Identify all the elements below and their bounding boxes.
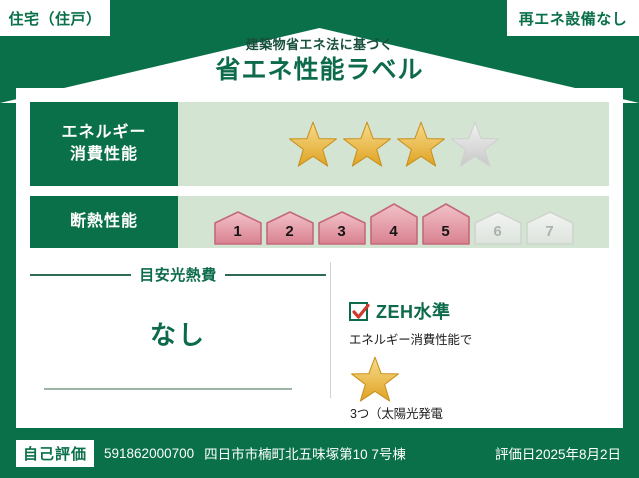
star-filled-icon	[341, 118, 393, 170]
star-filled-icon	[349, 353, 401, 405]
insulation-level-scale: 1234567	[213, 196, 575, 248]
utility-cost-column: 目安光熱費 なし	[30, 258, 326, 426]
energy-performance-name-line1: エネルギー	[61, 122, 146, 144]
evaluation-date: 評価日2025年8月2日	[495, 443, 621, 463]
insulation-level-5: 5	[421, 203, 471, 245]
utility-cost-heading: 目安光熱費	[30, 264, 326, 285]
label-body: エネルギー 消費性能 断熱性能 1234567 目安光熱費	[16, 88, 623, 428]
energy-performance-value	[178, 102, 609, 186]
utility-cost-value: なし	[30, 315, 326, 352]
house-filled-icon	[422, 203, 470, 245]
utility-cost-rule-right	[225, 274, 326, 276]
star-icon	[349, 353, 597, 405]
insulation-level-6: 6	[473, 211, 523, 245]
energy-performance-label: 住宅（住戸） 再エネ設備なし 建築物省エネ法に基づく 省エネ性能ラベル エネルギ…	[0, 0, 639, 478]
energy-performance-row: エネルギー 消費性能	[30, 102, 609, 186]
star-empty-icon	[449, 118, 501, 170]
self-evaluation-badge: 自己評価	[16, 440, 94, 467]
zeh-title: ZEH水準	[376, 298, 451, 324]
energy-performance-name-line2: 消費性能	[70, 144, 138, 166]
insulation-performance-name: 断熱性能	[30, 196, 178, 248]
utility-cost-heading-label: 目安光熱費	[139, 264, 217, 285]
star-rating	[287, 118, 501, 170]
renewable-energy-tag: 再エネ設備なし	[507, 0, 639, 36]
house-empty-icon	[474, 211, 522, 245]
insulation-level-1: 1	[213, 211, 263, 245]
evaluation-id: 591862000700	[104, 446, 194, 461]
renewable-energy-tag-label: 再エネ設備なし	[519, 8, 628, 29]
star-filled-icon	[287, 118, 339, 170]
house-filled-icon	[370, 203, 418, 245]
zeh-desc-star-count: 3つ（太陽光発電	[350, 407, 443, 421]
zeh-column: ZEH水準 エネルギー消費性能で3つ（太陽光発電は考慮しない）、かつ断熱性能で5…	[341, 258, 609, 426]
zeh-checkbox[interactable]	[349, 302, 368, 321]
building-type-tag: 住宅（住戸）	[0, 0, 110, 36]
energy-performance-name: エネルギー 消費性能	[30, 102, 178, 186]
insulation-level-2: 2	[265, 211, 315, 245]
insulation-level-4: 4	[369, 203, 419, 245]
utility-cost-bottom-rule	[44, 388, 292, 390]
lower-section: 目安光熱費 なし ZEH水準	[30, 258, 609, 426]
house-filled-icon	[214, 211, 262, 245]
insulation-performance-row: 断熱性能 1234567	[30, 196, 609, 248]
insulation-performance-value: 1234567	[178, 196, 609, 248]
check-icon	[350, 301, 372, 323]
house-filled-icon	[318, 211, 366, 245]
house-empty-icon	[526, 211, 574, 245]
property-address: 四日市市楠町北五味塚第10 7号棟	[204, 443, 406, 463]
vertical-divider	[330, 262, 331, 398]
insulation-level-3: 3	[317, 211, 367, 245]
zeh-title-row: ZEH水準	[349, 298, 597, 324]
house-filled-icon	[266, 211, 314, 245]
footer: 自己評価 591862000700 四日市市楠町北五味塚第10 7号棟 評価日2…	[0, 428, 639, 478]
building-type-tag-label: 住宅（住戸）	[8, 8, 101, 29]
zeh-block: ZEH水準 エネルギー消費性能で3つ（太陽光発電は考慮しない）、かつ断熱性能で5…	[341, 258, 609, 451]
insulation-level-7: 7	[525, 211, 575, 245]
insulation-performance-name-label: 断熱性能	[70, 211, 138, 233]
utility-cost-rule-left	[30, 274, 131, 276]
zeh-desc-part1: エネルギー消費性能で	[349, 333, 472, 347]
star-filled-icon	[395, 118, 447, 170]
